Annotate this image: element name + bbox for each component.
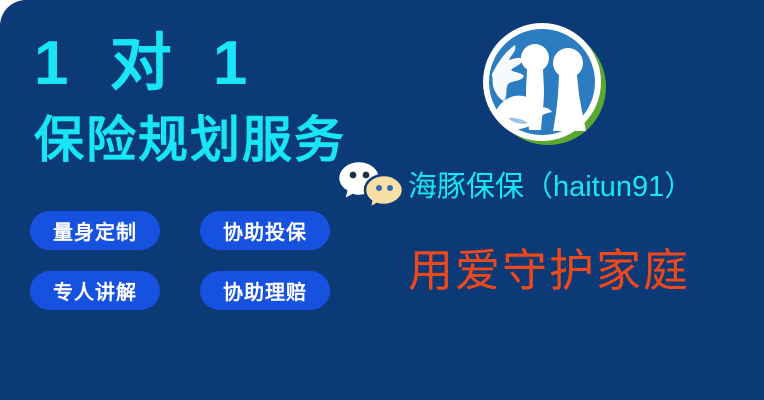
promo-banner: 1 对 1 保险规划服务 量身定制 协助投保 专人讲解 协助理赔 — [0, 0, 764, 400]
tagline-text: 用爱守护家庭 — [408, 248, 690, 293]
feature-pill-group: 量身定制 协助投保 专人讲解 协助理赔 — [30, 211, 335, 310]
wechat-handle-text: 海豚保保（haitun91） — [408, 163, 693, 205]
wechat-icon — [336, 158, 406, 210]
feature-pill-claims[interactable]: 协助理赔 — [200, 271, 330, 310]
globe-dolphin-family-logo — [478, 18, 612, 152]
feature-pill-expert[interactable]: 专人讲解 — [30, 271, 160, 310]
wechat-contact-row: 海豚保保（haitun91） — [336, 158, 693, 210]
feature-pill-apply[interactable]: 协助投保 — [200, 211, 330, 250]
feature-pill-custom[interactable]: 量身定制 — [30, 211, 160, 250]
headline-primary: 1 对 1 — [34, 33, 259, 95]
headline-secondary: 保险规划服务 — [34, 113, 346, 168]
